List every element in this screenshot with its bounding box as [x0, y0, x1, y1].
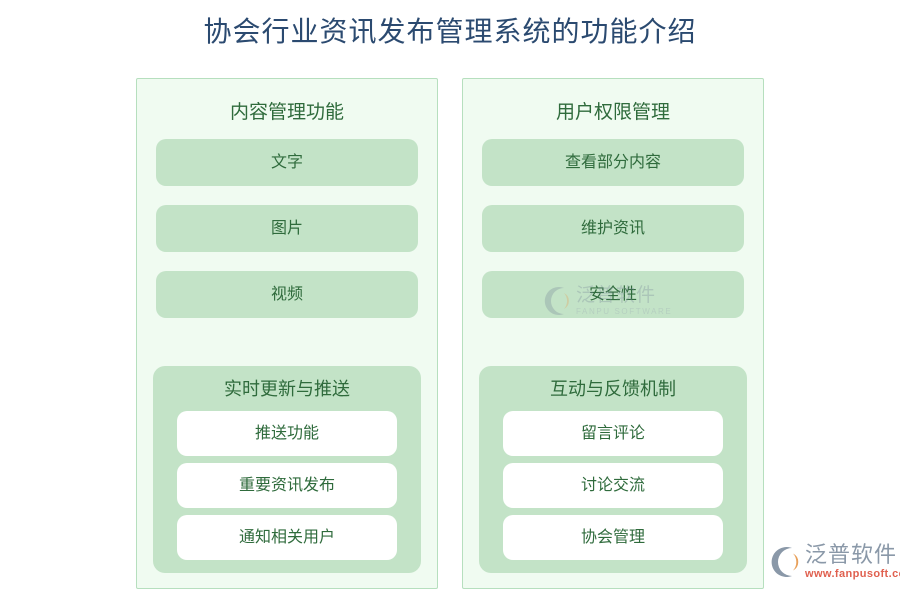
- panel-title: 内容管理功能: [137, 101, 437, 125]
- group-item[interactable]: 协会管理: [503, 515, 723, 560]
- panel-user-permissions: 用户权限管理 查看部分内容 维护资讯 安全性 互动与反馈机制 留言评论 讨论交流…: [462, 78, 764, 589]
- pill-list: 文字 图片 视频: [137, 139, 437, 318]
- pill-item[interactable]: 图片: [156, 205, 418, 252]
- group-item[interactable]: 推送功能: [177, 411, 397, 456]
- page-title: 协会行业资讯发布管理系统的功能介绍: [0, 14, 900, 52]
- group-title: 实时更新与推送: [153, 378, 421, 400]
- panel-title: 用户权限管理: [463, 101, 763, 125]
- pill-item[interactable]: 视频: [156, 271, 418, 318]
- pill-item[interactable]: 安全性: [482, 271, 744, 318]
- group-item[interactable]: 通知相关用户: [177, 515, 397, 560]
- brand-logo: 泛普软件 www.fanpusoft.com: [768, 536, 896, 588]
- pill-item[interactable]: 查看部分内容: [482, 139, 744, 186]
- pill-list: 查看部分内容 维护资讯 安全性: [463, 139, 763, 318]
- infographic-page: 协会行业资讯发布管理系统的功能介绍 内容管理功能 文字 图片 视频 实时更新与推…: [0, 0, 900, 600]
- group-item-list: 推送功能 重要资讯发布 通知相关用户: [153, 411, 421, 560]
- group-title: 互动与反馈机制: [479, 378, 747, 400]
- group-item-list: 留言评论 讨论交流 协会管理: [479, 411, 747, 560]
- pill-item[interactable]: 文字: [156, 139, 418, 186]
- group-box-interaction-feedback: 互动与反馈机制 留言评论 讨论交流 协会管理: [479, 366, 747, 573]
- group-item[interactable]: 留言评论: [503, 411, 723, 456]
- panels-container: 内容管理功能 文字 图片 视频 实时更新与推送 推送功能 重要资讯发布 通知相关…: [136, 78, 764, 589]
- brand-logo-text: 泛普软件 www.fanpusoft.com: [805, 544, 900, 580]
- group-item[interactable]: 讨论交流: [503, 463, 723, 508]
- fanpu-logo-icon: [768, 545, 802, 579]
- brand-url: www.fanpusoft.com: [805, 569, 900, 580]
- pill-item[interactable]: 维护资讯: [482, 205, 744, 252]
- panel-content-management: 内容管理功能 文字 图片 视频 实时更新与推送 推送功能 重要资讯发布 通知相关…: [136, 78, 438, 589]
- brand-name: 泛普软件: [805, 544, 900, 566]
- group-box-realtime-push: 实时更新与推送 推送功能 重要资讯发布 通知相关用户: [153, 366, 421, 573]
- group-item[interactable]: 重要资讯发布: [177, 463, 397, 508]
